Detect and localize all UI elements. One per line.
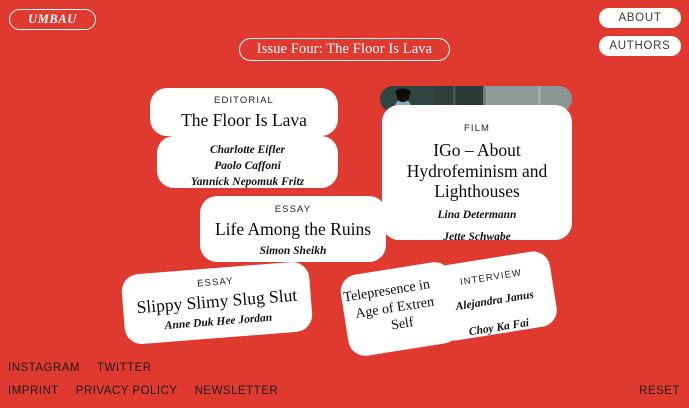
card-editorial-title: The Floor Is Lava — [150, 110, 338, 131]
footer-legal-links: IMPRINT PRIVACY POLICY NEWSLETTER — [8, 385, 278, 397]
card-film-title: IGo – About Hydrofeminism and Lighthouse… — [382, 140, 572, 202]
card-essay-ruins-title: Life Among the Ruins — [200, 219, 386, 240]
footer-link-imprint[interactable]: IMPRINT — [8, 385, 59, 397]
page-canvas: UMBAU Issue Four: The Floor Is Lava ABOU… — [0, 0, 689, 408]
authors-button[interactable]: AUTHORS — [599, 36, 681, 56]
brand-logo-label: UMBAU — [28, 12, 77, 27]
card-editorial-author-2: Paolo Caffoni — [157, 159, 338, 175]
brand-logo-pill[interactable]: UMBAU — [9, 9, 96, 30]
card-film-author-1: Lina Determann — [382, 208, 572, 224]
card-essay-ruins-kicker: ESSAY — [200, 204, 386, 215]
card-editorial-author-1: Charlotte Eifler — [157, 143, 338, 159]
card-film[interactable]: FILM IGo – About Hydrofeminism and Light… — [382, 105, 572, 240]
footer-social-links: INSTAGRAM TWITTER — [8, 362, 152, 374]
card-editorial-author-3: Yannick Nepomuk Fritz — [157, 175, 338, 188]
card-editorial-authors[interactable]: Charlotte Eifler Paolo Caffoni Yannick N… — [157, 136, 338, 188]
card-film-kicker: FILM — [382, 123, 572, 134]
card-editorial[interactable]: EDITORIAL The Floor Is Lava — [150, 88, 338, 136]
card-editorial-kicker: EDITORIAL — [150, 95, 338, 106]
card-essay-life-among-the-ruins[interactable]: ESSAY Life Among the Ruins Simon Sheikh — [200, 196, 386, 262]
footer-link-twitter[interactable]: TWITTER — [97, 362, 152, 374]
issue-title-pill[interactable]: Issue Four: The Floor Is Lava — [239, 38, 450, 61]
card-essay-ruins-author: Simon Sheikh — [200, 244, 386, 260]
issue-title-label: Issue Four: The Floor Is Lava — [257, 41, 432, 58]
about-button[interactable]: ABOUT — [599, 8, 681, 28]
card-interview[interactable]: INTERVIEW Alejandra Janus Choy Ka Fai — [429, 249, 559, 343]
card-film-author-2: Jette Schwabe — [382, 230, 572, 240]
card-essay-slippy-slimy-slug-slut[interactable]: ESSAY Slippy Slimy Slug Slut Anne Duk He… — [121, 261, 314, 346]
reset-button[interactable]: RESET — [639, 385, 680, 397]
footer-link-instagram[interactable]: INSTAGRAM — [8, 362, 80, 374]
footer-link-newsletter[interactable]: NEWSLETTER — [195, 385, 279, 397]
footer-link-privacy-policy[interactable]: PRIVACY POLICY — [76, 385, 178, 397]
